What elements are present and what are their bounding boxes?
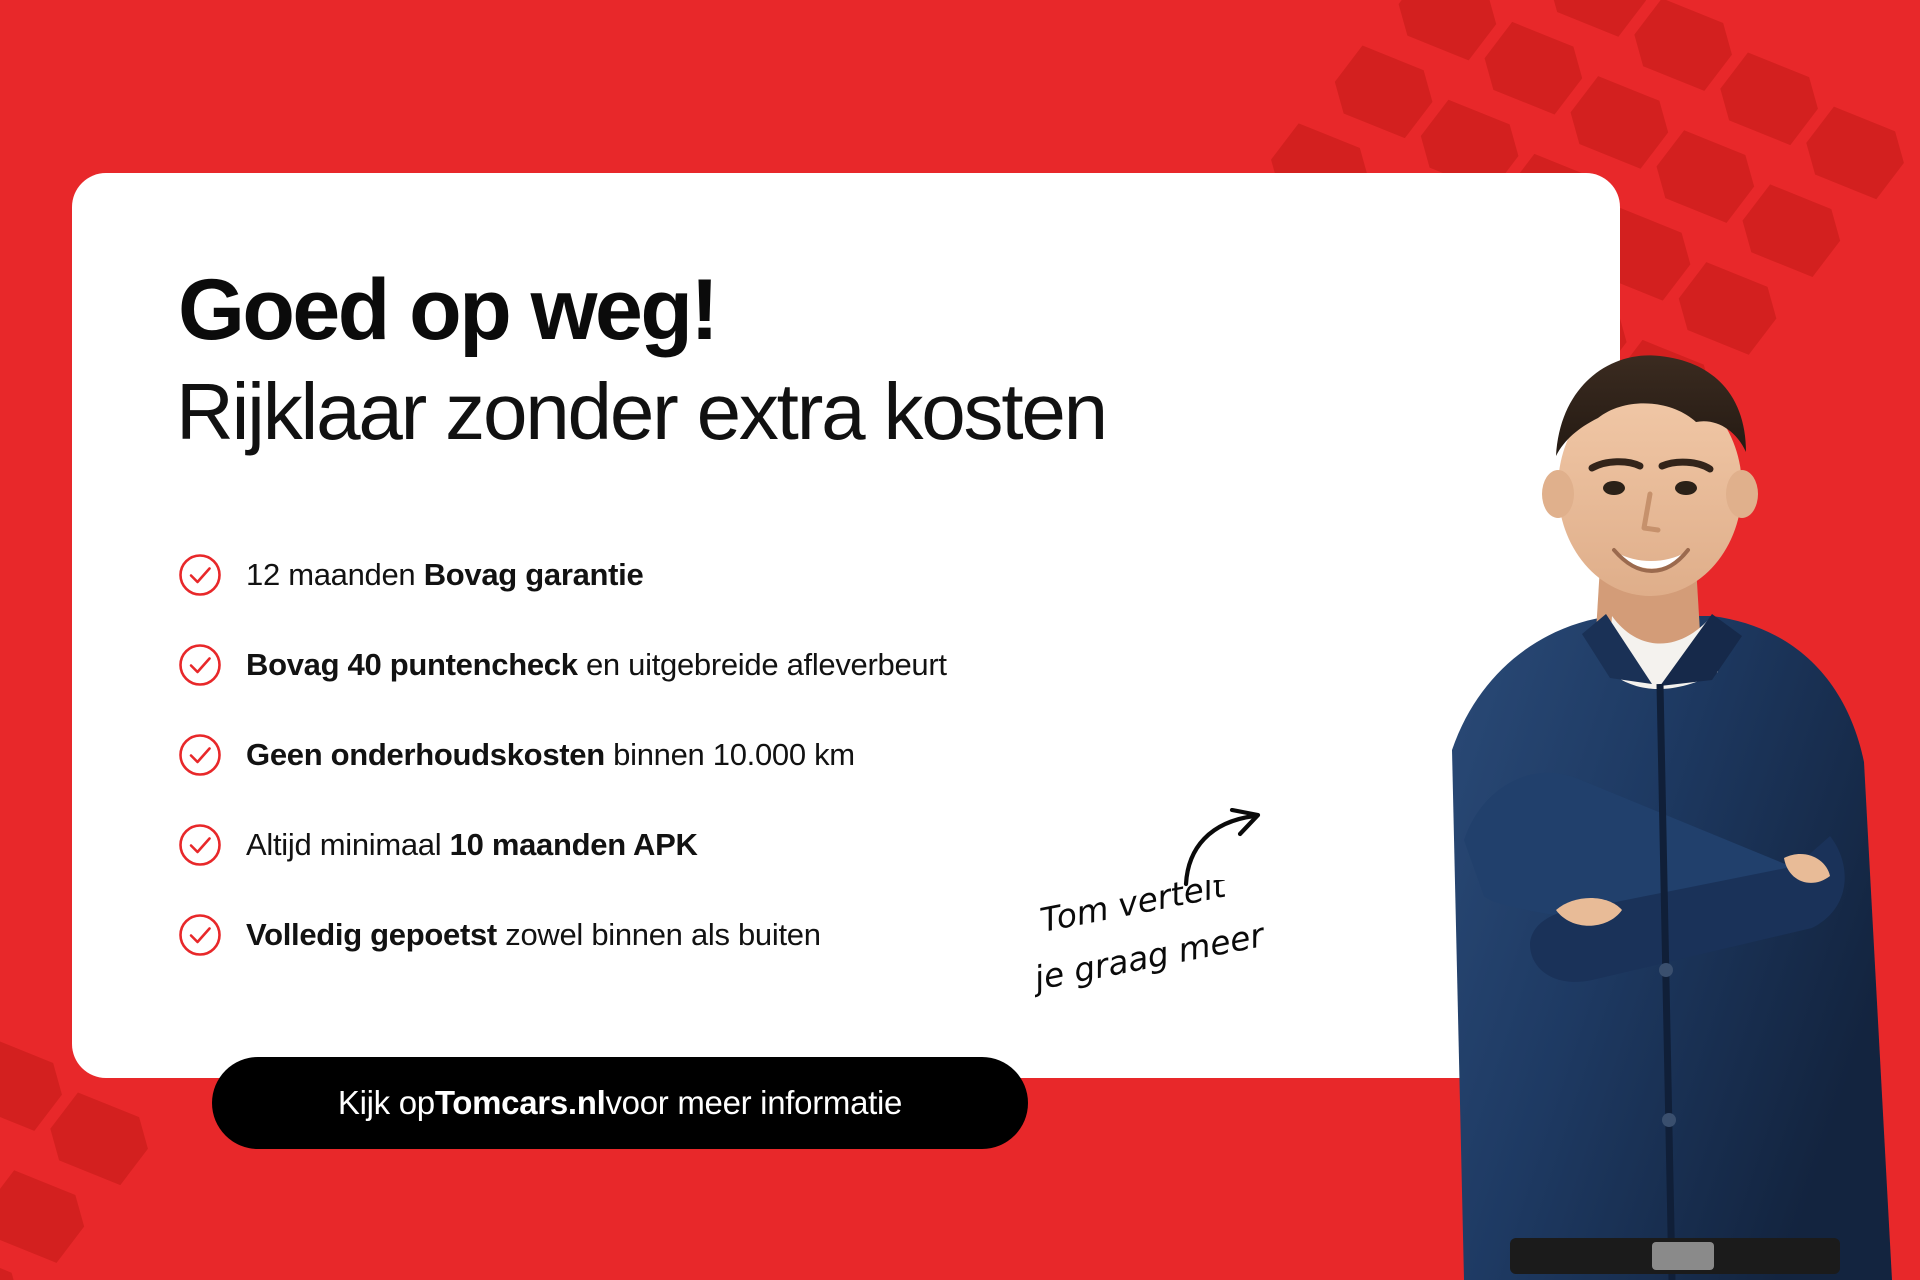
feature-text: Bovag 40 puntencheck en uitgebreide afle… xyxy=(246,648,947,682)
feature-prefix: Altijd minimaal xyxy=(246,827,450,862)
check-circle-icon xyxy=(178,643,222,687)
feature-suffix: binnen 10.000 km xyxy=(605,737,855,772)
cta-prefix: Kijk op xyxy=(338,1084,435,1122)
check-circle-icon xyxy=(178,553,222,597)
feature-prefix: 12 maanden xyxy=(246,557,424,592)
list-item: Geen onderhoudskosten binnen 10.000 km xyxy=(178,728,1178,782)
feature-bold: Volledig gepoetst xyxy=(246,917,497,952)
list-item: Altijd minimaal 10 maanden APK xyxy=(178,818,1178,872)
feature-list: 12 maanden Bovag garantie Bovag 40 punte… xyxy=(178,548,1178,962)
feature-bold: 10 maanden APK xyxy=(450,827,698,862)
feature-text: Volledig gepoetst zowel binnen als buite… xyxy=(246,918,821,952)
page-title: Goed op weg! xyxy=(178,268,717,352)
check-circle-icon xyxy=(178,733,222,777)
feature-bold: Bovag 40 puntencheck xyxy=(246,647,578,682)
list-item: Volledig gepoetst zowel binnen als buite… xyxy=(178,908,1178,962)
list-item: 12 maanden Bovag garantie xyxy=(178,548,1178,602)
feature-bold: Geen onderhoudskosten xyxy=(246,737,605,772)
check-circle-icon xyxy=(178,913,222,957)
cta-brand: Tomcars.nl xyxy=(435,1084,606,1122)
curved-arrow-icon xyxy=(1180,808,1270,888)
feature-suffix: zowel binnen als buiten xyxy=(497,917,821,952)
feature-text: 12 maanden Bovag garantie xyxy=(246,558,643,592)
feature-bold: Bovag garantie xyxy=(424,557,644,592)
list-item: Bovag 40 puntencheck en uitgebreide afle… xyxy=(178,638,1178,692)
cta-suffix: voor meer informatie xyxy=(605,1084,902,1122)
promo-banner: Goed op weg! Rijklaar zonder extra koste… xyxy=(0,0,1920,1280)
feature-suffix: en uitgebreide afleverbeurt xyxy=(578,647,947,682)
feature-text: Geen onderhoudskosten binnen 10.000 km xyxy=(246,738,855,772)
check-circle-icon xyxy=(178,823,222,867)
feature-text: Altijd minimaal 10 maanden APK xyxy=(246,828,698,862)
page-subtitle: Rijklaar zonder extra kosten xyxy=(176,372,1106,452)
cta-button[interactable]: Kijk op Tomcars.nl voor meer informatie xyxy=(212,1057,1028,1149)
